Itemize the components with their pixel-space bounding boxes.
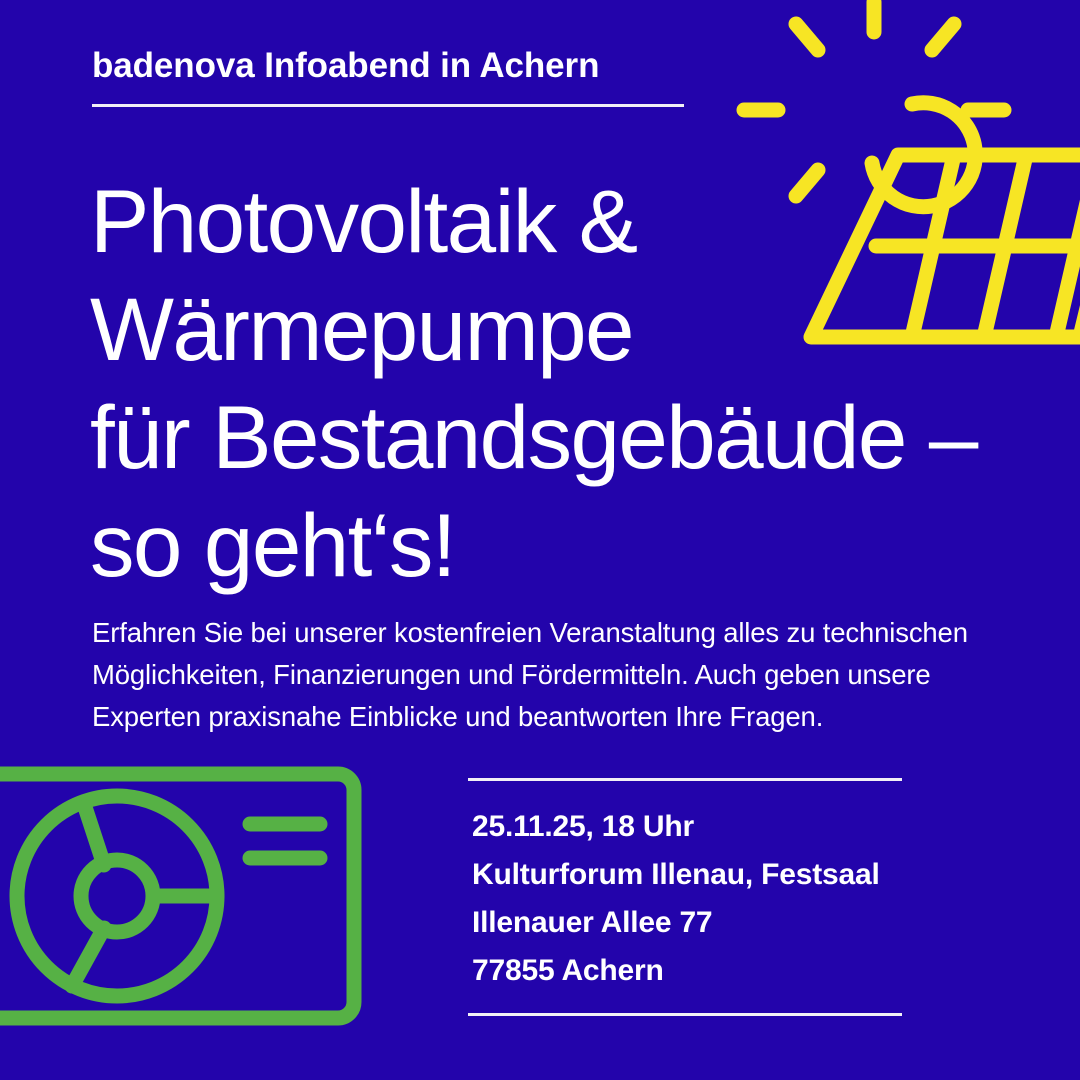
heat-pump-icon <box>0 762 374 1030</box>
body-copy: Erfahren Sie bei unserer kostenfreien Ve… <box>92 612 992 738</box>
heat-pump-fan-blade-1-icon <box>85 807 104 865</box>
eyebrow-block: badenova Infoabend in Achern <box>92 44 686 107</box>
headline-line-2: Wärmepumpe <box>90 275 1020 383</box>
headline-line-3: für Bestandsgebäude – <box>90 383 1020 491</box>
eyebrow-label: badenova Infoabend in Achern <box>92 44 686 88</box>
sun-ray-upper-right-icon <box>932 24 954 50</box>
headline-line-1: Photovoltaik & <box>90 167 1020 275</box>
heat-pump-fan-blade-3-icon <box>72 928 104 986</box>
eyebrow-divider <box>92 104 684 107</box>
headline-line-4: so geht‘s! <box>90 491 1020 599</box>
heat-pump-fan-hub-icon <box>81 860 153 932</box>
page-title: Photovoltaik & Wärmepumpe für Bestandsge… <box>90 167 1020 599</box>
event-details-block: 25.11.25, 18 Uhr Kulturforum Illenau, Fe… <box>468 778 902 1016</box>
heat-pump-fan-ring-icon <box>17 796 217 996</box>
sun-ray-upper-left-icon <box>796 24 818 50</box>
event-details-lines: 25.11.25, 18 Uhr Kulturforum Illenau, Fe… <box>468 781 902 1013</box>
event-datetime: 25.11.25, 18 Uhr <box>472 803 902 851</box>
event-street: Illenauer Allee 77 <box>472 899 902 947</box>
poster-canvas: badenova Infoabend in Achern Photovoltai… <box>0 0 1080 1080</box>
event-city: 77855 Achern <box>472 947 902 995</box>
details-divider-bottom <box>468 1013 902 1016</box>
event-venue: Kulturforum Illenau, Festsaal <box>472 851 902 899</box>
body-copy-paragraph: Erfahren Sie bei unserer kostenfreien Ve… <box>92 612 992 738</box>
heat-pump-housing-icon <box>0 774 354 1018</box>
